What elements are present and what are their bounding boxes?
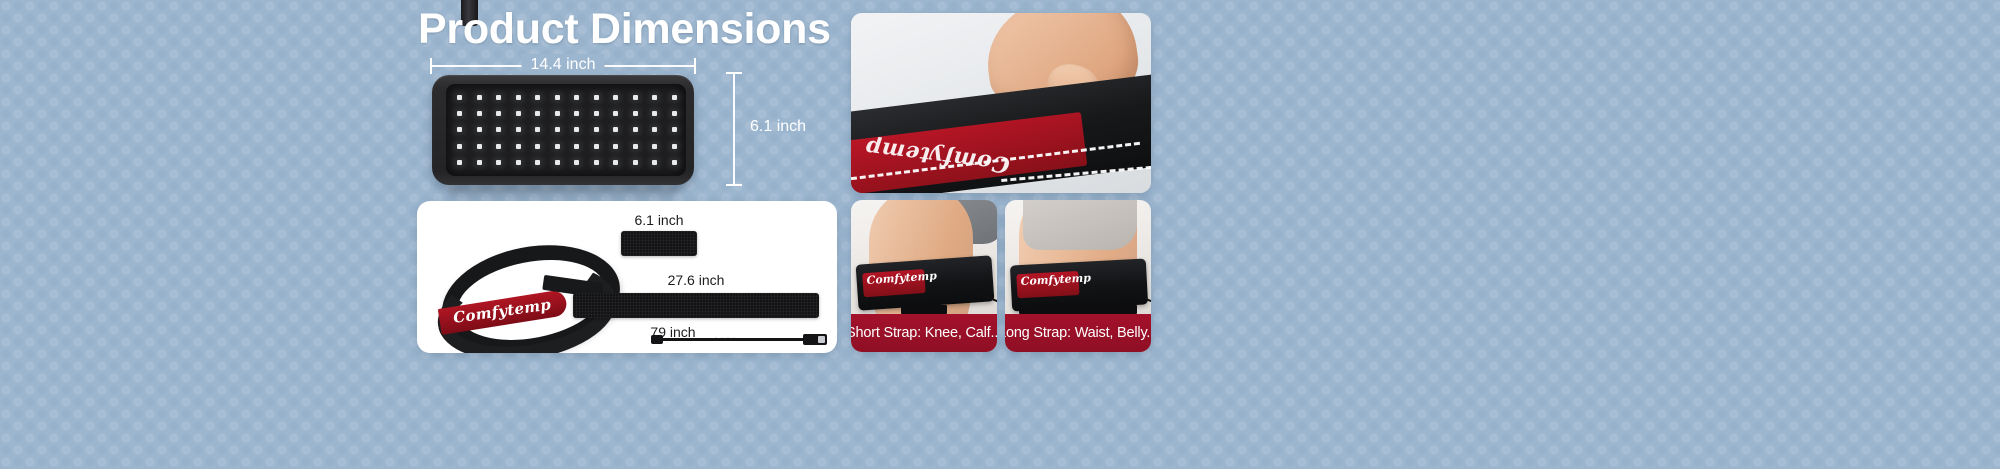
led-dot [555,144,560,149]
led-dot [516,95,521,100]
led-dot [672,144,677,149]
led-dot [477,95,482,100]
usb-plug-icon [803,334,827,345]
led-dot [574,95,579,100]
led-dot [594,95,599,100]
led-dot [555,160,560,165]
led-dot [633,95,638,100]
led-dot [516,111,521,116]
led-dot [574,160,579,165]
led-panel-body [432,75,694,185]
led-grid [450,89,684,171]
led-dot [633,144,638,149]
caption-text: Short Strap: Knee, Calf... [851,325,997,341]
led-dot [652,111,657,116]
led-dot [555,95,560,100]
led-dot [535,144,540,149]
dimension-cap-right [694,58,696,74]
led-dot [477,111,482,116]
panel-height-dimension [723,72,745,186]
led-dot [457,127,462,132]
led-dot [613,144,618,149]
led-dot [613,160,618,165]
led-dot [477,144,482,149]
led-dot [574,144,579,149]
panel-height-label: 6.1 inch [750,117,806,137]
led-dot [516,144,521,149]
led-dot [652,144,657,149]
strap-brand-label: Comfytemp [1020,271,1091,288]
led-dot [555,127,560,132]
led-dot [457,144,462,149]
led-dot [594,111,599,116]
led-dot [652,127,657,132]
led-dot [574,111,579,116]
strap-worn-on-waist: Comfytemp [1010,258,1148,311]
led-dot [594,160,599,165]
led-dot [613,127,618,132]
long-strap-length-label: 27.6 inch [573,271,819,289]
led-dot [516,127,521,132]
led-dot [496,160,501,165]
led-dot [613,95,618,100]
led-dot [496,144,501,149]
led-dot [496,111,501,116]
caption-marker-bar [1019,305,1137,314]
caption-bar-knee: Short Strap: Knee, Calf... [851,314,997,352]
led-dot [652,160,657,165]
strap-worn-on-knee: Comfytemp [856,255,995,310]
top-garment-illustration [1023,200,1137,250]
strap-dimensions-card: Comfytemp 6.1 inch 27.6 inch 79 inch [417,201,837,353]
usb-cable-illustration [651,333,827,345]
caption-marker-bar [901,305,947,314]
led-dot [672,95,677,100]
dimension-cap-left [430,58,432,74]
led-dot [535,127,540,132]
photo-velcro-closure: Comfytemp [851,13,1151,193]
dimension-cap-top [726,72,742,74]
led-panel-face [446,84,686,176]
led-dot [535,160,540,165]
led-dot [535,111,540,116]
led-dot [633,127,638,132]
long-strap-swatch [573,293,819,318]
led-dot [457,160,462,165]
panel-width-label: 14.4 inch [522,54,605,76]
cable-break-dots [713,337,735,341]
led-dot [672,111,677,116]
led-dot [633,111,638,116]
dimension-line [733,72,735,186]
led-dot [652,95,657,100]
caption-bar-waist: Long Strap: Waist, Belly... [1005,314,1151,352]
led-dot [672,127,677,132]
photo-long-strap-waist: Comfytemp Long Strap: Waist, Belly... [1005,200,1151,352]
short-strap-length-label: 6.1 inch [595,211,723,229]
dimension-cap-bottom [726,184,742,186]
led-dot [496,127,501,132]
led-dot [613,111,618,116]
strap-measurements-column: 6.1 inch 27.6 inch 79 inch [573,209,829,347]
led-dot [594,127,599,132]
led-dot [633,160,638,165]
led-dot [555,111,560,116]
led-dot [535,95,540,100]
led-dot [672,160,677,165]
led-dot [457,95,462,100]
led-dot [594,144,599,149]
led-dot [477,160,482,165]
caption-text: Long Strap: Waist, Belly... [1005,325,1151,341]
led-dot [496,95,501,100]
page-title: Product Dimensions [418,4,764,54]
led-dot [516,160,521,165]
led-panel [432,75,694,185]
panel-width-dimension: 14.4 inch [430,54,696,76]
led-dot [457,111,462,116]
led-dot [574,127,579,132]
short-strap-swatch [621,231,697,256]
infographic-canvas: Product Dimensions 14.4 inch 6.1 inch Co… [0,0,2000,469]
photo-short-strap-knee: Comfytemp Short Strap: Knee, Calf... [851,200,997,352]
led-dot [477,127,482,132]
